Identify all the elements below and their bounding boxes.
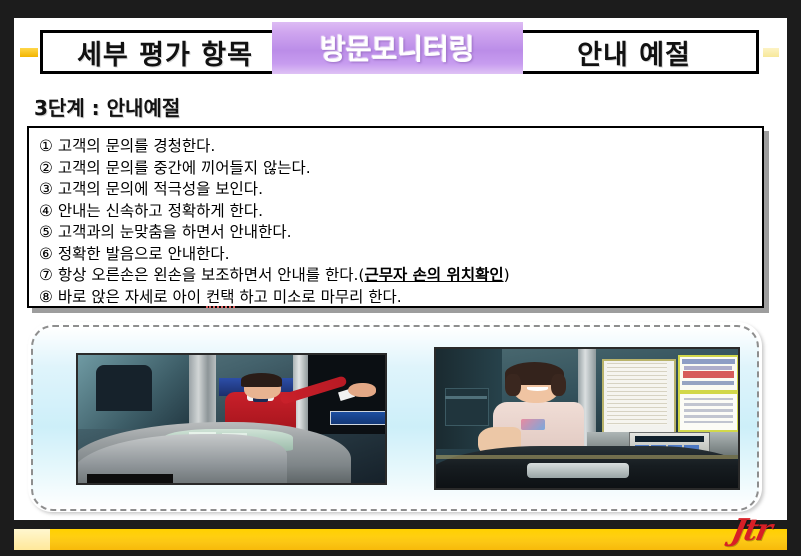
list-item-number: ⑤ xyxy=(39,223,53,241)
list-item-text: 정확한 발음으로 안내한다. xyxy=(58,245,230,263)
list-item-number: ③ xyxy=(39,180,53,198)
footer-gold-band-accent xyxy=(14,529,50,550)
header-right-title: 안내 예절 xyxy=(577,33,691,72)
photo-right-attendant-hair-left xyxy=(505,374,520,396)
sign2-line-4 xyxy=(684,415,733,418)
list-item: ⑤고객과의 눈맞춤을 하면서 안내한다. xyxy=(39,222,762,244)
checklist-box: ①고객의 문의를 경청한다. ②고객의 문의를 중간에 끼어들지 않는다. ③고… xyxy=(27,126,764,308)
list-item: ③고객의 문의에 적극성을 보인다. xyxy=(39,179,762,201)
header-badge: 방문모니터링 xyxy=(272,22,523,74)
sign2-line-1 xyxy=(684,398,733,401)
list-item-text: 바로 앉은 자세로 아이 xyxy=(58,288,206,306)
list-item-text-tail: 하고 미소로 마무리 한다. xyxy=(235,288,402,306)
list-item-text: 고객의 문의를 중간에 끼어들지 않는다. xyxy=(58,159,311,177)
list-item-number: ⑥ xyxy=(39,245,53,263)
list-item-text: 고객과의 눈맞춤을 하면서 안내한다. xyxy=(58,223,292,241)
list-item-text-tail: ) xyxy=(504,266,510,284)
sign-line-2 xyxy=(684,366,732,370)
list-item-number: ① xyxy=(39,137,53,155)
sign-line-3-speed xyxy=(683,371,733,378)
list-item: ⑧바로 앉은 자세로 아이 컨택 하고 미소로 마무리 한다. xyxy=(39,287,762,309)
header-right-title-box: 안내 예절 xyxy=(509,30,759,74)
slide-canvas: 세부 평가 항목 방문모니터링 안내 예절 3단계 : 안내예절 ①고객의 문의… xyxy=(14,18,787,520)
list-item-text: 고객의 문의를 경청한다. xyxy=(58,137,215,155)
photo-left-timestamp-bar xyxy=(87,474,173,483)
photo-left-background-figure xyxy=(96,365,151,411)
list-item-text: 고객의 문의에 적극성을 보인다. xyxy=(58,180,263,198)
list-item-number: ⑧ xyxy=(39,288,53,306)
list-item: ④안내는 신속하고 정확하게 한다. xyxy=(39,201,762,223)
sign-line-1 xyxy=(682,359,735,364)
list-item: ②고객의 문의를 중간에 끼어들지 않는다. xyxy=(39,158,762,180)
list-item-number: ② xyxy=(39,159,53,177)
list-item-text: 항상 오른손은 왼손을 보조하면서 안내를 한다.( xyxy=(58,266,365,284)
photo-right-attendant-hair-right xyxy=(551,374,566,396)
header-badge-label: 방문모니터링 xyxy=(320,28,475,68)
header-left-title: 세부 평가 항목 xyxy=(77,33,253,72)
list-item: ⑦항상 오른손은 왼손을 보조하면서 안내를 한다.(근무자 손의 위치확인) xyxy=(39,265,762,287)
list-item-emphasis: 근무자 손의 위치확인 xyxy=(364,266,503,284)
photo-right-car-window xyxy=(527,463,630,478)
photo-right xyxy=(434,347,740,490)
photo-right-notice-board-text xyxy=(607,363,667,426)
page-subtitle: 3단계 : 안내예절 xyxy=(34,92,180,121)
header-left-title-box: 세부 평가 항목 xyxy=(40,30,290,74)
photo-right-refund-notice-sign xyxy=(678,392,739,432)
slide-header: 세부 평가 항목 방문모니터링 안내 예절 xyxy=(14,18,787,84)
list-item: ⑥정확한 발음으로 안내한다. xyxy=(39,244,762,266)
sign2-line-2 xyxy=(684,403,733,406)
left-marker-tab-icon xyxy=(20,48,38,57)
sign2-line-5 xyxy=(684,421,733,424)
list-item-text: 안내는 신속하고 정확하게 한다. xyxy=(58,202,263,220)
photo-left-display-device xyxy=(330,411,387,425)
slide-root: 세부 평가 항목 방문모니터링 안내 예절 3단계 : 안내예절 ①고객의 문의… xyxy=(0,0,801,556)
photo-left xyxy=(76,353,387,485)
photo-right-equipment-shelf xyxy=(445,396,487,399)
brand-logo: Jtr xyxy=(646,513,773,547)
list-item: ①고객의 문의를 경청한다. xyxy=(39,136,762,158)
photo-right-equipment-rack xyxy=(445,388,489,426)
sign-line-4 xyxy=(682,381,734,386)
right-marker-tab-icon xyxy=(763,48,779,57)
sign2-line-3 xyxy=(684,409,733,412)
list-item-number: ④ xyxy=(39,202,53,220)
photo-panel xyxy=(31,325,759,511)
photo-left-attendant-hair xyxy=(241,373,282,387)
photo-right-speed-limit-sign xyxy=(678,355,739,392)
photo-left-attendant-hand xyxy=(348,383,376,397)
list-item-number: ⑦ xyxy=(39,266,53,284)
payment-device-screen xyxy=(635,436,704,442)
photo-right-attendant-badge xyxy=(521,419,545,430)
photo-right-car-stripe xyxy=(434,455,740,459)
list-item-spellcheck-word: 컨택 xyxy=(206,288,235,308)
